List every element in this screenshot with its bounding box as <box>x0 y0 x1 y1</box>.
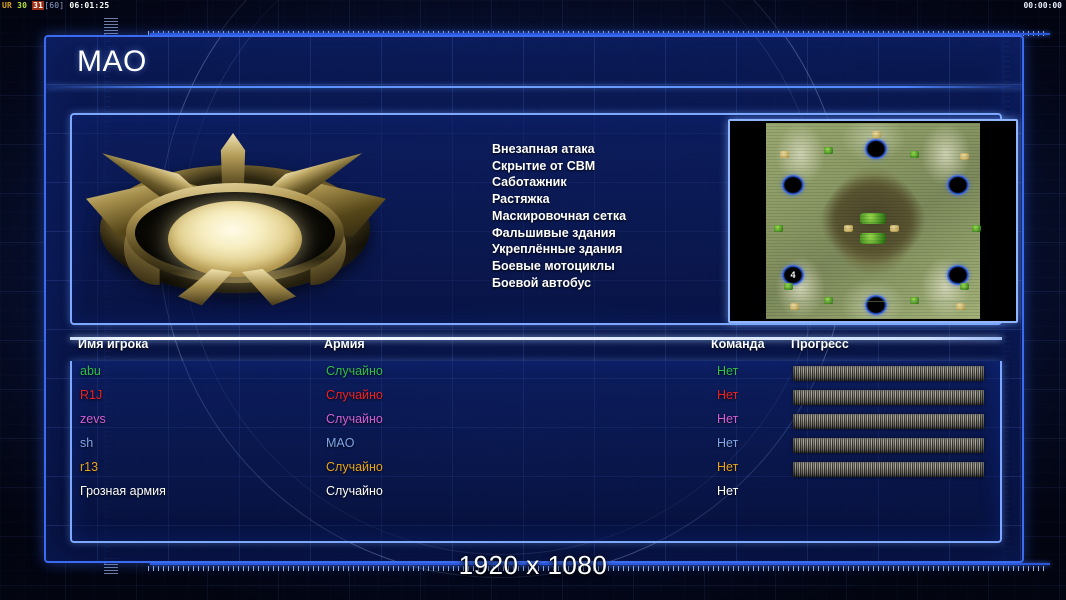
map-spawn-label: 4 <box>782 265 804 285</box>
player-name: r13 <box>80 460 98 474</box>
status-bracket: [60] <box>44 1 64 10</box>
player-name: zevs <box>80 412 106 426</box>
player-team[interactable]: Нет <box>717 412 738 426</box>
ability-item: Боевые мотоциклы <box>492 258 742 275</box>
map-resource <box>960 283 969 290</box>
map-preview-inner: 4 <box>732 123 1014 319</box>
ability-item: Внезапная атака <box>492 141 742 158</box>
map-resource <box>824 147 833 154</box>
title-divider <box>46 86 1022 88</box>
map-resource <box>956 303 965 310</box>
table-row[interactable]: abuСлучайноНет <box>72 361 1000 385</box>
status-bar-left: UR 30 31[60] 06:01:25 <box>2 0 109 12</box>
map-spawn-point <box>865 295 887 315</box>
table-row[interactable]: shMAOНет <box>72 433 1000 457</box>
gla-emblem <box>90 127 380 315</box>
faction-briefing-window: MAO Внезапная атакаСкрыт <box>44 35 1024 563</box>
map-resource <box>910 151 919 158</box>
map-resource <box>774 225 783 232</box>
faction-ability-list: Внезапная атакаСкрытие от СВМСаботажникР… <box>492 141 742 291</box>
map-resource <box>790 303 799 310</box>
status-bar: UR 30 31[60] 06:01:25 00:00:00 <box>0 0 1066 12</box>
map-spawn-point-4: 4 <box>782 265 804 285</box>
status-prefix: UR <box>2 1 12 10</box>
player-team[interactable]: Нет <box>717 364 738 378</box>
player-team[interactable]: Нет <box>717 460 738 474</box>
player-table-header: Имя игрока Армия Команда Прогресс <box>70 337 1002 359</box>
resolution-caption: 1920 x 1080 <box>0 550 1066 581</box>
player-team[interactable]: Нет <box>717 436 738 450</box>
ability-item: Растяжка <box>492 191 742 208</box>
map-resource <box>972 225 981 232</box>
map-resource <box>890 225 899 232</box>
ability-item: Боевой автобус <box>492 275 742 292</box>
player-name: abu <box>80 364 101 378</box>
map-spawn-point <box>947 175 969 195</box>
ability-item: Саботажник <box>492 174 742 191</box>
corner-mark-top-left <box>104 18 118 34</box>
player-army[interactable]: Случайно <box>326 388 383 402</box>
player-name: Грозная армия <box>80 484 166 498</box>
map-spawn-point <box>865 139 887 159</box>
map-resource <box>844 225 853 232</box>
table-row[interactable]: r13СлучайноНет <box>72 457 1000 481</box>
map-resource <box>784 283 793 290</box>
table-row[interactable]: zevsСлучайноНет <box>72 409 1000 433</box>
table-row[interactable]: R1JСлучайноНет <box>72 385 1000 409</box>
faction-info-panel: Внезапная атакаСкрытие от СВМСаботажникР… <box>70 113 1002 325</box>
header-divider <box>70 337 1002 340</box>
player-progress-bar <box>793 462 984 477</box>
player-team[interactable]: Нет <box>717 484 738 498</box>
ability-item: Укреплённые здания <box>492 241 742 258</box>
window-titlebar: MAO <box>46 37 1022 89</box>
player-army[interactable]: Случайно <box>326 484 383 498</box>
map-preview[interactable]: 4 <box>728 119 1018 323</box>
player-team[interactable]: Нет <box>717 388 738 402</box>
screen-root: UR 30 31[60] 06:01:25 00:00:00 MAO <box>0 0 1066 600</box>
ability-item: Маскировочная сетка <box>492 208 742 225</box>
player-name: R1J <box>80 388 102 402</box>
map-boundary-line <box>766 301 980 302</box>
player-table: Имя игрока Армия Команда Прогресс abuСлу… <box>70 337 1002 543</box>
ability-item: Фальшивые здания <box>492 225 742 242</box>
player-table-body: abuСлучайноНетR1JСлучайноНетzevsСлучайно… <box>70 361 1002 543</box>
player-army[interactable]: MAO <box>326 436 354 450</box>
player-progress-bar <box>793 438 984 453</box>
player-army[interactable]: Случайно <box>326 364 383 378</box>
status-clock: 06:01:25 <box>69 1 109 10</box>
status-timer: 00:00:00 <box>1023 0 1062 12</box>
status-value-b: 31 <box>32 1 44 10</box>
status-value-a: 30 <box>17 1 27 10</box>
player-army[interactable]: Случайно <box>326 460 383 474</box>
page-title: MAO <box>77 45 147 79</box>
player-progress-bar <box>793 390 984 405</box>
map-spawn-point <box>947 265 969 285</box>
player-progress-bar <box>793 414 984 429</box>
player-progress-bar <box>793 366 984 381</box>
table-row[interactable]: Грозная армияСлучайноНет <box>72 481 1000 505</box>
map-resource <box>872 131 881 138</box>
map-resource <box>780 151 789 158</box>
ability-item: Скрытие от СВМ <box>492 158 742 175</box>
player-army[interactable]: Случайно <box>326 412 383 426</box>
emblem-core <box>168 201 302 277</box>
map-resource <box>860 233 886 244</box>
map-resource <box>960 153 969 160</box>
player-name: sh <box>80 436 93 450</box>
map-resource <box>860 213 886 224</box>
map-spawn-point <box>782 175 804 195</box>
